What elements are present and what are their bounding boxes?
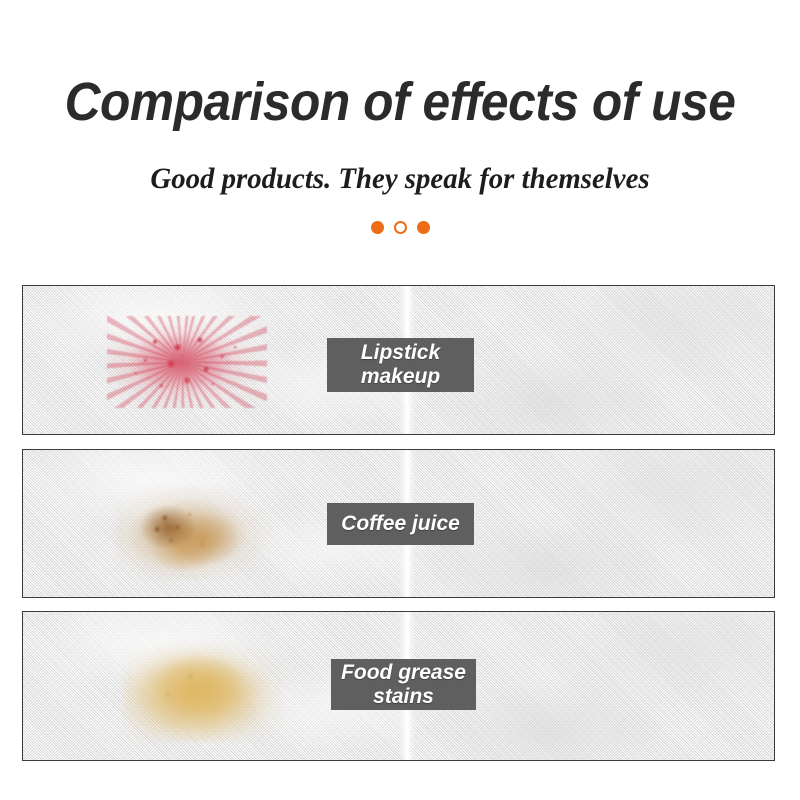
comparison-panel-lipstick[interactable]: Lipstick makeup [22,285,775,435]
carousel-dot-1[interactable] [371,221,384,234]
panel-label-coffee: Coffee juice [327,503,474,545]
comparison-page: Comparison of effects of use Good produc… [0,0,800,800]
panel-label-line-2: makeup [361,365,440,389]
panel-label-line-1: Food grease [341,661,466,685]
page-title: Comparison of effects of use [32,72,768,132]
carousel-dots [0,221,800,234]
panel-label-lipstick: Lipstick makeup [327,338,474,392]
panel-label-line-1: Coffee juice [341,512,460,536]
panel-label-line-2: stains [373,685,434,709]
carousel-dot-2[interactable] [394,221,407,234]
comparison-panel-grease[interactable]: Food grease stains [22,611,775,761]
comparison-panel-coffee[interactable]: Coffee juice [22,449,775,598]
page-subtitle: Good products. They speak for themselves [16,161,784,197]
panel-label-grease: Food grease stains [331,659,476,710]
carousel-dot-3[interactable] [417,221,430,234]
panel-label-line-1: Lipstick [361,341,440,365]
